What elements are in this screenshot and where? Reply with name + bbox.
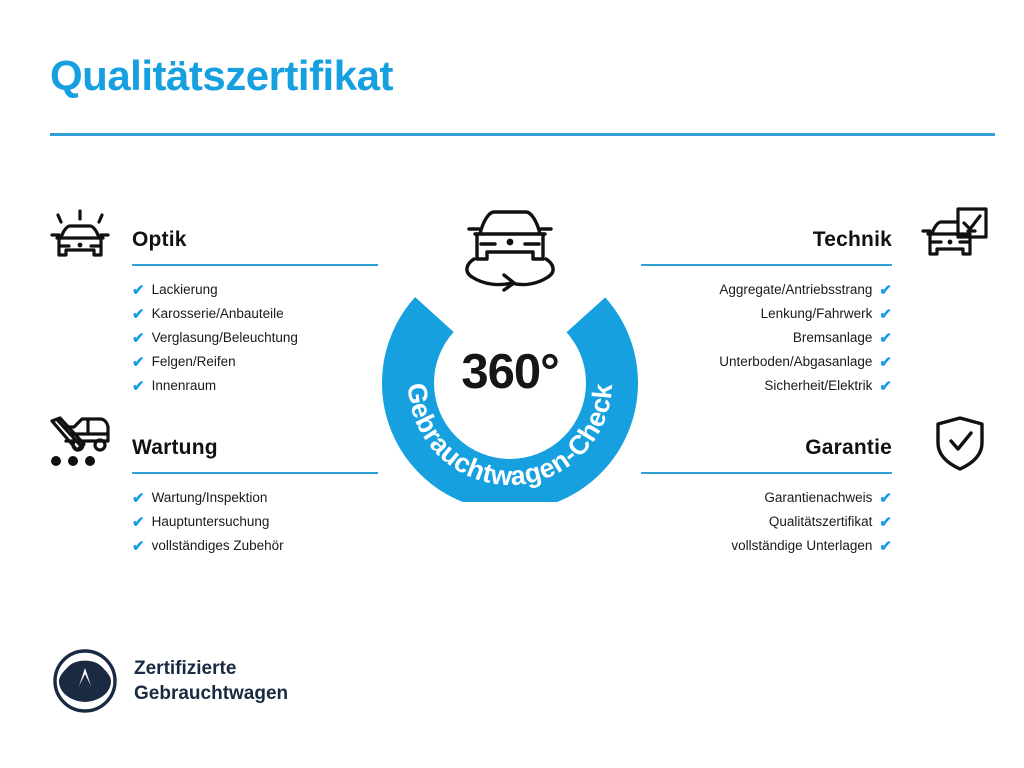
- car-rotation-icon: [450, 196, 570, 292]
- section-underline-technik: [641, 264, 892, 266]
- list-item: Sicherheit/Elektrik✔: [640, 374, 892, 398]
- list-item: Lenkung/Fahrwerk✔: [640, 302, 892, 326]
- section-title-optik: Optik: [132, 228, 187, 252]
- car-checkbox-icon: [906, 204, 990, 266]
- check-icon: ✔: [879, 491, 892, 506]
- check-icon: ✔: [132, 307, 145, 322]
- list-item-label: Innenraum: [152, 374, 217, 398]
- list-item-label: Lenkung/Fahrwerk: [761, 302, 873, 326]
- check-icon: ✔: [879, 283, 892, 298]
- list-item-label: Aggregate/Antriebsstrang: [719, 278, 872, 302]
- check-icon: ✔: [132, 539, 145, 554]
- page-title: Qualitätszertifikat: [50, 52, 393, 100]
- section-header-technik: Technik: [640, 204, 990, 266]
- footer-brand: Zertifizierte Gebrauchtwagen: [52, 648, 288, 714]
- check-icon: ✔: [132, 355, 145, 370]
- check-icon: ✔: [132, 515, 145, 530]
- check-icon: ✔: [132, 283, 145, 298]
- list-item-label: Sicherheit/Elektrik: [764, 374, 872, 398]
- check-icon: ✔: [879, 355, 892, 370]
- check-icon: ✔: [132, 331, 145, 346]
- vw-wordmark: Zertifizierte Gebrauchtwagen: [134, 656, 288, 706]
- section-title-garantie: Garantie: [805, 436, 892, 460]
- checklist-optik: ✔Lackierung ✔Karosserie/Anbauteile ✔Verg…: [44, 278, 384, 398]
- list-item-label: Qualitätszertifikat: [769, 510, 873, 534]
- list-item-label: Wartung/Inspektion: [152, 486, 268, 510]
- section-underline-wartung: [132, 472, 378, 474]
- check-icon: ✔: [879, 539, 892, 554]
- list-item: Aggregate/Antriebsstrang✔: [640, 278, 892, 302]
- list-item: vollständige Unterlagen✔: [640, 534, 892, 558]
- badge-center-label: 360°: [372, 344, 648, 400]
- vw-roundel-logo: [52, 648, 118, 714]
- header-divider: [50, 133, 995, 136]
- list-item: Garantienachweis✔: [640, 486, 892, 510]
- check-icon: ✔: [879, 307, 892, 322]
- section-optik: Optik ✔Lackierung ✔Karosserie/Anbauteile…: [44, 204, 384, 398]
- vw-wordmark-line2: Gebrauchtwagen: [134, 681, 288, 706]
- list-item-label: Lackierung: [152, 278, 218, 302]
- section-wartung: Wartung ✔Wartung/Inspektion ✔Hauptunters…: [44, 412, 384, 558]
- list-item-label: vollständiges Zubehör: [152, 534, 284, 558]
- vw-wordmark-line1: Zertifizierte: [134, 656, 288, 681]
- check-icon: ✔: [879, 331, 892, 346]
- list-item: Bremsanlage✔: [640, 326, 892, 350]
- check-icon: ✔: [132, 379, 145, 394]
- shield-check-icon: [906, 412, 990, 474]
- list-item-label: Felgen/Reifen: [152, 350, 236, 374]
- list-item: ✔Karosserie/Anbauteile: [132, 302, 384, 326]
- list-item-label: Karosserie/Anbauteile: [152, 302, 284, 326]
- list-item: ✔Wartung/Inspektion: [132, 486, 384, 510]
- section-underline-garantie: [641, 472, 892, 474]
- list-item-label: Bremsanlage: [793, 326, 873, 350]
- list-item-label: vollständige Unterlagen: [731, 534, 872, 558]
- list-item: Unterboden/Abgasanlage✔: [640, 350, 892, 374]
- list-item-label: Unterboden/Abgasanlage: [719, 350, 872, 374]
- list-item-label: Hauptuntersuchung: [152, 510, 270, 534]
- list-item: ✔Lackierung: [132, 278, 384, 302]
- section-underline-optik: [132, 264, 378, 266]
- section-header-wartung: Wartung: [44, 412, 384, 474]
- car-pen-service-icon: [44, 412, 128, 474]
- section-header-garantie: Garantie: [640, 412, 990, 474]
- section-title-technik: Technik: [813, 228, 892, 252]
- checklist-wartung: ✔Wartung/Inspektion ✔Hauptuntersuchung ✔…: [44, 486, 384, 558]
- section-header-optik: Optik: [44, 204, 384, 266]
- list-item: ✔Verglasung/Beleuchtung: [132, 326, 384, 350]
- checklist-technik: Aggregate/Antriebsstrang✔ Lenkung/Fahrwe…: [640, 278, 990, 398]
- check-icon: ✔: [879, 379, 892, 394]
- list-item: ✔Hauptuntersuchung: [132, 510, 384, 534]
- badge-360-gebrauchtwagen-check: Gebrauchtwagen-Check: [372, 196, 648, 506]
- certificate-page: Qualitätszertifikat: [0, 0, 1024, 768]
- list-item-label: Verglasung/Beleuchtung: [152, 326, 298, 350]
- check-icon: ✔: [879, 515, 892, 530]
- check-icon: ✔: [132, 491, 145, 506]
- car-shine-icon: [44, 204, 128, 266]
- section-title-wartung: Wartung: [132, 436, 218, 460]
- section-garantie: Garantie Garantienachweis✔ Qualitätszert…: [640, 412, 990, 558]
- list-item: ✔vollständiges Zubehör: [132, 534, 384, 558]
- list-item-label: Garantienachweis: [764, 486, 872, 510]
- list-item: ✔Innenraum: [132, 374, 384, 398]
- list-item: ✔Felgen/Reifen: [132, 350, 384, 374]
- checklist-garantie: Garantienachweis✔ Qualitätszertifikat✔ v…: [640, 486, 990, 558]
- list-item: Qualitätszertifikat✔: [640, 510, 892, 534]
- section-technik: Technik Aggregate/Antriebsstrang✔ Lenkun…: [640, 204, 990, 398]
